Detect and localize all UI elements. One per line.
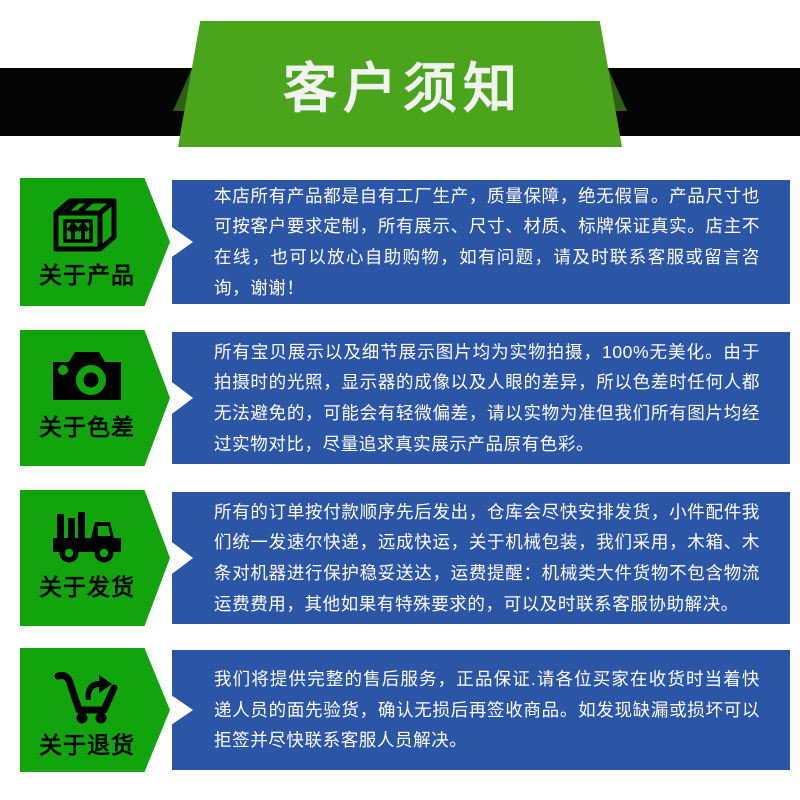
tag-shipping[interactable]: 关于发货 bbox=[20, 490, 170, 626]
camera-icon bbox=[44, 344, 130, 410]
section-row-return: 关于退货 我们将提供完整的售后服务，正品保证.请各位买家在收货时当着快递人员的面… bbox=[0, 648, 800, 772]
panel-return: 我们将提供完整的售后服务，正品保证.请各位买家在收货时当着快递人员的面先验货，确… bbox=[172, 650, 790, 770]
tag-color[interactable]: 关于色差 bbox=[20, 330, 170, 466]
panel-text-product: 本店所有产品都是自有工厂生产，质量保障，绝无假冒。产品尺寸也可按客户要求定制，所… bbox=[172, 181, 790, 304]
panel-color: 所有宝贝展示以及细节展示图片均为实物拍摄，100%无美化。由于拍摄时的光照，显示… bbox=[172, 332, 790, 464]
forklift-truck-icon bbox=[44, 504, 130, 570]
header-banner: 客户须知 bbox=[0, 0, 800, 160]
page-title: 客户须知 bbox=[277, 52, 523, 116]
section-row-product: 关于产品 本店所有产品都是自有工厂生产，质量保障，绝无假冒。产品尺寸也可按客户要… bbox=[0, 178, 800, 306]
tag-label-color: 关于色差 bbox=[39, 416, 135, 439]
panel-text-shipping: 所有的订单按付款顺序先后发出，仓库会尽快安排发货，小件配件我们统一发速尔快递，远… bbox=[172, 497, 790, 620]
panel-text-return: 我们将提供完整的售后服务，正品保证.请各位买家在收货时当着快递人员的面先验货，确… bbox=[172, 664, 790, 756]
section-row-shipping: 关于发货 所有的订单按付款顺序先后发出，仓库会尽快安排发货，小件配件我们统一发速… bbox=[0, 490, 800, 626]
tag-return[interactable]: 关于退货 bbox=[20, 648, 170, 772]
tag-product[interactable]: 关于产品 bbox=[20, 178, 170, 306]
panel-text-color: 所有宝贝展示以及细节展示图片均为实物拍摄，100%无美化。由于拍摄时的光照，显示… bbox=[172, 337, 790, 460]
customer-notice-infographic: 客户须知 bbox=[0, 0, 800, 800]
banner-body: 客户须知 bbox=[178, 21, 622, 147]
panel-product: 本店所有产品都是自有工厂生产，质量保障，绝无假冒。产品尺寸也可按客户要求定制，所… bbox=[172, 180, 790, 304]
tag-label-return: 关于退货 bbox=[39, 734, 135, 757]
tag-label-product: 关于产品 bbox=[39, 264, 135, 287]
package-box-icon bbox=[44, 192, 130, 258]
section-row-color: 关于色差 所有宝贝展示以及细节展示图片均为实物拍摄，100%无美化。由于拍摄时的… bbox=[0, 330, 800, 466]
return-cart-icon bbox=[44, 662, 130, 728]
panel-shipping: 所有的订单按付款顺序先后发出，仓库会尽快安排发货，小件配件我们统一发速尔快递，远… bbox=[172, 492, 790, 624]
tag-label-shipping: 关于发货 bbox=[39, 576, 135, 599]
